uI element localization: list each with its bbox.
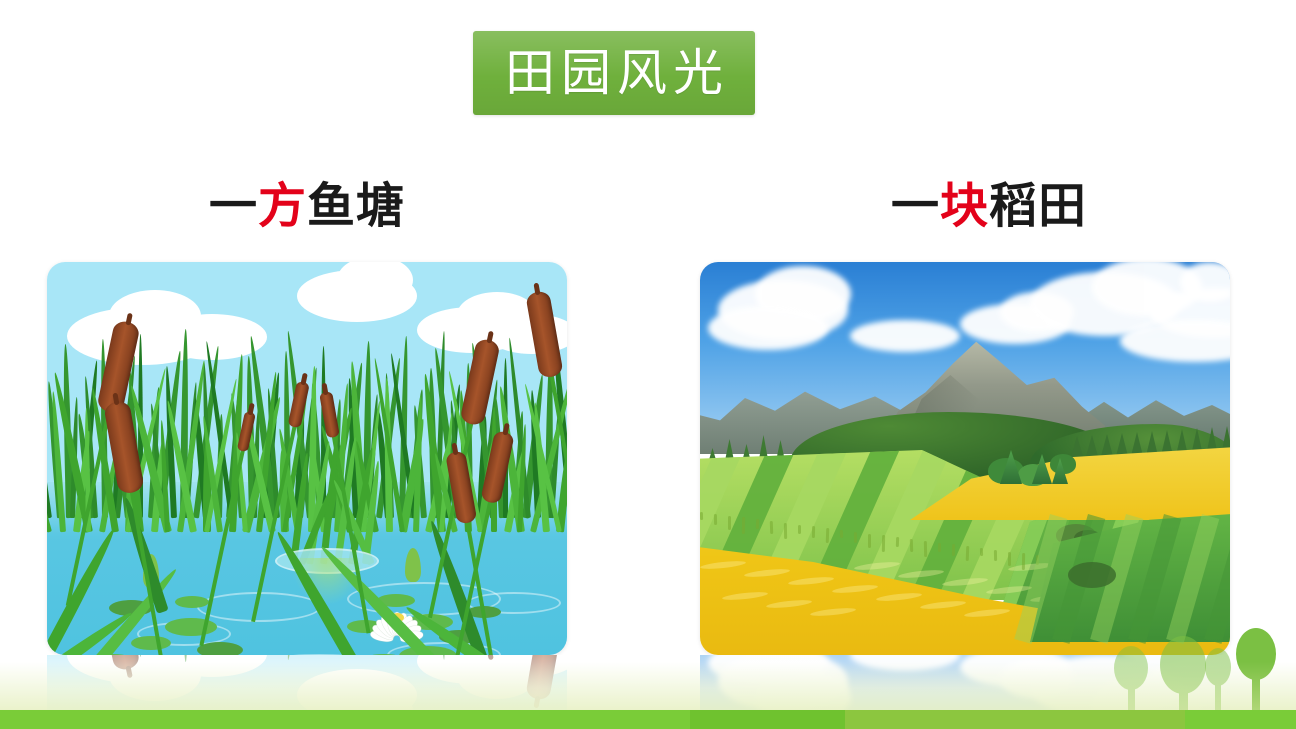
footer-bar-seg-3 [845,710,1185,729]
field-cloud-2 [708,306,828,350]
pond-reed [138,655,143,657]
pond-reed [180,655,189,662]
caption-field: 一块稻田 [682,178,1296,236]
field-cloud-9 [850,320,960,352]
pond-reed [248,655,278,656]
field-dark-bush [1068,562,1116,588]
pond-reed [435,655,447,660]
field-grass-fringe [742,517,745,534]
page-title: 田园风光 [499,48,729,98]
field-grass-fringe [700,512,703,520]
field-grass-fringe [966,546,970,561]
image-pond [47,262,567,655]
pond-reed [517,424,528,532]
caption-field-highlight: 块 [940,180,989,233]
field-grass-fringe [770,521,773,534]
caption-field-part1: 一 [891,180,940,233]
field-grass-fringe [756,519,759,529]
field-grass-fringe [840,530,843,538]
pond-artwork [47,262,567,655]
slide-canvas: 田园风光 一方鱼塘 一块稻田 [0,0,1296,729]
caption-pond: 一方鱼塘 [0,178,614,236]
field-grass-fringe [784,523,787,539]
field-grass-fringe [938,543,941,552]
field-grass-fringe [854,532,857,543]
rice-field-artwork [700,262,1230,655]
field-grass-fringe [896,537,899,547]
field-grass-fringe [980,548,983,556]
pond-reed [47,454,52,533]
pond-lilypad [165,618,217,636]
footer-bar-seg-1 [0,710,690,729]
field-grass-fringe [714,514,717,525]
pond-lilypad [197,642,243,655]
field-grass-fringe [1022,553,1025,570]
field-grass-fringe [882,535,885,552]
footer-bar-seg-2 [690,710,845,729]
caption-field-part2: 稻田 [989,180,1087,233]
field-grass-fringe [868,534,871,548]
pond-center-clump [283,444,373,564]
field-grass-fringe [952,544,955,556]
image-rice-field [700,262,1230,655]
footer-bar [0,710,1296,729]
footer-wash [0,662,1296,710]
field-grass-fringe [812,526,815,538]
caption-pond-highlight: 方 [258,180,307,233]
field-grass-fringe [798,525,801,534]
cattail-tip [486,655,493,660]
field-grass-fringe [910,539,913,552]
field-grass-fringe [728,516,731,530]
footer-bar-seg-4 [1185,710,1296,729]
title-banner: 田园风光 [473,31,755,115]
caption-pond-part2: 鱼塘 [307,180,405,233]
field-grass-fringe [924,541,927,557]
pond-reed [551,655,567,659]
field-grass-fringe [994,550,997,561]
caption-pond-part1: 一 [209,180,258,233]
pond-reed [286,655,314,661]
pond-lilypad [131,636,171,650]
field-grass-fringe [826,528,830,543]
pond-lilypad [175,596,209,608]
field-grass-fringe [1008,552,1011,566]
